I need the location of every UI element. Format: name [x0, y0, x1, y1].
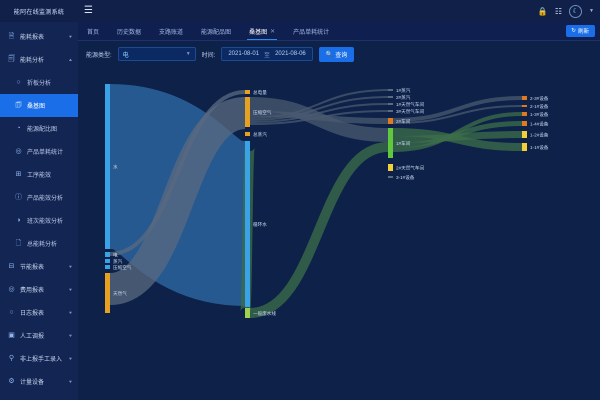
top-bar: ☰ 🔒 ☷ ☾ ▼: [78, 0, 600, 22]
sankey-node-label: 水: [113, 163, 118, 169]
search-icon: 🔍: [326, 51, 333, 58]
sidebar-item-label: 日志报表: [20, 308, 68, 317]
leaf-icon: ⊟: [7, 262, 16, 271]
pin-icon: ◎: [14, 147, 23, 156]
sankey-node-label: 电: [113, 251, 118, 257]
sankey-node[interactable]: [522, 105, 527, 107]
chevron-down-icon[interactable]: ▼: [589, 8, 594, 14]
sidebar-item-8[interactable]: ◑班次能效分析: [0, 209, 78, 232]
sankey-node[interactable]: [522, 96, 527, 100]
sankey-node-label: 2-3#设备: [530, 95, 549, 102]
sankey-link[interactable]: [250, 147, 388, 313]
analysis-icon: 🗐: [7, 55, 16, 64]
sidebar: 能阿在线监测系统 🗎能耗报表▼🗐能耗分析▲○折板分析🗊桑基图◔能源配比图◎产品单…: [0, 0, 78, 400]
app-logo: 能阿在线监测系统: [0, 0, 78, 22]
sankey-node-label: 3#天然气车间: [396, 108, 424, 115]
sidebar-item-label: 桑基图: [27, 101, 73, 110]
coin-icon: ◎: [7, 285, 16, 294]
sankey-node[interactable]: [245, 132, 250, 136]
menu-icon[interactable]: ☰: [84, 6, 96, 16]
refresh-icon: ↻: [571, 28, 576, 34]
sidebar-item-12[interactable]: ○日志报表▼: [0, 301, 78, 324]
sidebar-item-0[interactable]: 🗎能耗报表▼: [0, 25, 78, 48]
energy-type-value: 电: [123, 50, 186, 59]
sidebar-item-11[interactable]: ◎费用报表▼: [0, 278, 78, 301]
chevron-down-icon[interactable]: ▼: [68, 287, 73, 292]
table-icon: ⊞: [14, 170, 23, 179]
date-start[interactable]: 2021-08-01: [228, 51, 259, 57]
sidebar-item-1[interactable]: 🗐能耗分析▲: [0, 48, 78, 71]
info-icon: ⓘ: [14, 193, 23, 202]
report-icon: 🗎: [7, 32, 16, 41]
sidebar-item-5[interactable]: ◎产品单耗统计: [0, 140, 78, 163]
sankey-node[interactable]: [105, 259, 110, 263]
sankey-node[interactable]: [245, 90, 250, 94]
tab-2[interactable]: 支路账道: [150, 22, 192, 40]
calendar-icon: 至: [264, 50, 270, 59]
keyboard-icon: ⚲: [7, 354, 16, 363]
sankey-node-label: 1-3#设备: [530, 111, 549, 118]
top-bar-icons: 🔒 ☷ ☾ ▼: [538, 5, 594, 18]
chevron-down-icon[interactable]: ▼: [68, 264, 73, 269]
sankey-node[interactable]: [105, 265, 110, 269]
sidebar-item-label: 产品能效分析: [27, 193, 73, 202]
sankey-node[interactable]: [105, 84, 110, 249]
edit-icon: ▣: [7, 331, 16, 340]
sidebar-item-6[interactable]: ⊞工序能效: [0, 163, 78, 186]
sidebar-item-label: 非上报手工录入: [20, 354, 68, 363]
tab-3[interactable]: 能源配品图: [192, 22, 240, 40]
chevron-down-icon[interactable]: ▼: [68, 379, 73, 384]
sidebar-item-9[interactable]: 🗋总能耗分析: [0, 232, 78, 255]
sankey-node[interactable]: [388, 118, 393, 124]
sankey-node[interactable]: [522, 121, 527, 126]
gear-icon: ⚙: [7, 377, 16, 386]
refresh-label: 刷新: [578, 27, 589, 35]
sankey-node-label: 2#车间: [396, 118, 411, 125]
energy-type-select[interactable]: 电 ▼: [118, 47, 196, 61]
pie-icon: ◔: [14, 124, 23, 133]
sankey-svg: 水电蒸汽压缩空气天然气总电量压缩空气总蒸汽循环水一般废水线1#蒸汽2#蒸汽1#天…: [78, 67, 600, 384]
grid-icon[interactable]: ☷: [555, 7, 562, 16]
sankey-node-label: 循环水: [253, 221, 267, 228]
sidebar-item-2[interactable]: ○折板分析: [0, 71, 78, 94]
refresh-button[interactable]: ↻ 刷新: [566, 25, 595, 37]
sidebar-item-label: 能耗分析: [20, 55, 68, 64]
sankey-node-label: 一般废水线: [253, 310, 276, 317]
sidebar-item-14[interactable]: ⚲非上报手工录入▼: [0, 347, 78, 370]
user-avatar[interactable]: ☾: [569, 5, 582, 18]
sidebar-item-label: 能源配比图: [27, 124, 73, 133]
sankey-node-label: 2-1#设备: [530, 103, 549, 110]
tab-bar: 首页历史数据支路账道能源配品图桑基图✕产品单耗统计 ↻ 刷新: [78, 22, 600, 41]
sankey-node-label: 1-4#设备: [530, 120, 549, 127]
tab-4[interactable]: 桑基图✕: [240, 22, 284, 40]
sidebar-item-13[interactable]: ▣人工调报▼: [0, 324, 78, 347]
sankey-node-label: 天然气: [113, 290, 127, 297]
tab-label: 产品单耗统计: [293, 27, 329, 36]
doc-icon: 🗋: [14, 239, 23, 248]
search-button[interactable]: 🔍 查询: [319, 47, 355, 62]
clock-icon: ◑: [14, 216, 23, 225]
sankey-node[interactable]: [388, 128, 393, 158]
sankey-node-label: 压缩空气: [253, 109, 272, 116]
chevron-down-icon[interactable]: ▼: [68, 356, 73, 361]
chevron-up-icon[interactable]: ▲: [68, 57, 73, 62]
sankey-node-label: 1#车间: [396, 140, 411, 147]
sankey-node[interactable]: [245, 141, 250, 307]
sidebar-item-label: 费用报表: [20, 285, 68, 294]
chevron-down-icon[interactable]: ▼: [68, 34, 73, 39]
sidebar-item-label: 班次能效分析: [27, 216, 73, 225]
search-label: 查询: [335, 50, 347, 59]
sankey-node[interactable]: [105, 273, 110, 313]
tab-1[interactable]: 历史数据: [108, 22, 150, 40]
sankey-node-label: 压缩空气: [113, 264, 132, 271]
sankey-node[interactable]: [388, 164, 393, 171]
log-icon: ○: [7, 308, 16, 317]
sankey-node[interactable]: [245, 97, 250, 127]
main-area: ☰ 🔒 ☷ ☾ ▼ 首页历史数据支路账道能源配品图桑基图✕产品单耗统计 ↻ 刷新…: [78, 0, 600, 400]
sankey-node-label: 1-2#设备: [530, 131, 549, 138]
chevron-down-icon[interactable]: ▼: [68, 310, 73, 315]
sankey-node[interactable]: [388, 89, 393, 91]
sidebar-item-10[interactable]: ⊟节能报表▼: [0, 255, 78, 278]
tab-label: 桑基图: [249, 27, 267, 36]
sankey-node[interactable]: [388, 103, 393, 105]
sidebar-item-7[interactable]: ⓘ产品能效分析: [0, 186, 78, 209]
sankey-node[interactable]: [388, 96, 393, 98]
sidebar-item-4[interactable]: ◔能源配比图: [0, 117, 78, 140]
sidebar-item-label: 能耗报表: [20, 32, 68, 41]
sankey-node-label: 2#蒸汽: [396, 94, 411, 101]
sidebar-item-label: 人工调报: [20, 331, 68, 340]
sankey-node-label: 1#蒸汽: [396, 87, 411, 94]
sankey-node[interactable]: [105, 252, 110, 257]
sankey-chart: 水电蒸汽压缩空气天然气总电量压缩空气总蒸汽循环水一般废水线1#蒸汽2#蒸汽1#天…: [78, 67, 600, 400]
tab-label: 历史数据: [117, 27, 141, 36]
sankey-icon: 🗊: [14, 101, 23, 110]
tab-label: 支路账道: [159, 27, 183, 36]
sankey-node-label: 3-1#设备: [396, 174, 415, 181]
tab-label: 首页: [87, 27, 99, 36]
sankey-node-label: 总蒸汽: [253, 131, 267, 138]
sidebar-item-label: 节能报表: [20, 262, 68, 271]
sankey-node-label: 总电量: [253, 89, 267, 96]
energy-type-label: 能源类型:: [86, 50, 112, 59]
circle-icon: ○: [14, 78, 23, 87]
date-range-picker[interactable]: 2021-08-01 至 2021-08-06: [221, 47, 312, 61]
sankey-node[interactable]: [522, 143, 527, 151]
sidebar-item-label: 工序能效: [27, 170, 73, 179]
chevron-down-icon: ▼: [186, 51, 191, 57]
sankey-node-label: 1#天然气车间: [396, 101, 424, 108]
date-end[interactable]: 2021-08-06: [275, 51, 306, 57]
sankey-node[interactable]: [245, 308, 250, 318]
sidebar-menu: 🗎能耗报表▼🗐能耗分析▲○折板分析🗊桑基图◔能源配比图◎产品单耗统计⊞工序能效ⓘ…: [0, 22, 78, 393]
tab-label: 能源配品图: [201, 27, 231, 36]
filter-bar: 能源类型: 电 ▼ 时间: 2021-08-01 至 2021-08-06 🔍 …: [78, 41, 600, 67]
lock-icon[interactable]: 🔒: [538, 7, 548, 16]
chevron-down-icon[interactable]: ▼: [68, 333, 73, 338]
sankey-node[interactable]: [522, 131, 527, 138]
sankey-node-label: 1-1#设备: [530, 144, 549, 151]
close-icon[interactable]: ✕: [270, 28, 275, 35]
tab-5[interactable]: 产品单耗统计: [284, 22, 338, 40]
sankey-node[interactable]: [388, 110, 393, 112]
date-label: 时间:: [202, 50, 216, 59]
sankey-node[interactable]: [388, 176, 393, 178]
sidebar-item-label: 折板分析: [27, 78, 73, 87]
sidebar-item-label: 计量设备: [20, 377, 68, 386]
sidebar-item-label: 产品单耗统计: [27, 147, 73, 156]
sidebar-item-label: 总能耗分析: [27, 239, 73, 248]
sidebar-item-15[interactable]: ⚙计量设备▼: [0, 370, 78, 393]
app-root: 能阿在线监测系统 🗎能耗报表▼🗐能耗分析▲○折板分析🗊桑基图◔能源配比图◎产品单…: [0, 0, 600, 400]
sankey-node-label: 蒸汽: [113, 258, 123, 265]
sankey-node-label: 2#天然气车间: [396, 164, 424, 171]
sidebar-item-3[interactable]: 🗊桑基图: [0, 94, 78, 117]
sankey-node[interactable]: [522, 112, 527, 116]
tab-0[interactable]: 首页: [78, 22, 108, 40]
